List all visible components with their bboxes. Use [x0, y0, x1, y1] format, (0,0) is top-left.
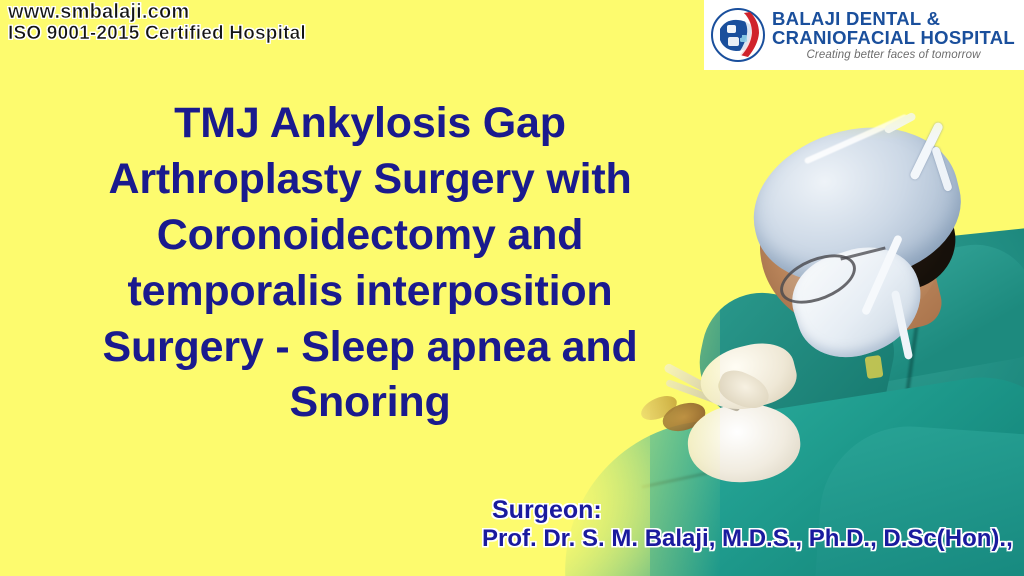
surgeon-credit: Surgeon: Prof. Dr. S. M. Balaji, M.D.S.,…: [492, 496, 1013, 553]
title-line: Surgery - Sleep apnea and: [0, 320, 740, 376]
balaji-hospital-emblem-icon: [710, 7, 766, 63]
slide-root: www.smbalaji.com ISO 9001-2015 Certified…: [0, 0, 1024, 576]
surgical-cap-tie: [883, 111, 917, 134]
title-line: Arthroplasty Surgery with: [0, 152, 740, 208]
hospital-logo[interactable]: BALAJI DENTAL & CRANIOFACIAL HOSPITAL Cr…: [704, 0, 1024, 70]
logo-line-1: BALAJI DENTAL &: [772, 9, 1015, 28]
surgeon-ear: [845, 247, 891, 305]
surgeon-head: [740, 138, 960, 351]
surgical-cap-seam: [804, 113, 909, 164]
title-line: TMJ Ankylosis Gap: [0, 96, 740, 152]
surgical-mask: [781, 233, 935, 371]
header-left-text: www.smbalaji.com ISO 9001-2015 Certified…: [8, 2, 306, 44]
surgeon-neck: [857, 242, 946, 337]
surgical-mask-strap: [861, 234, 903, 316]
page-title: TMJ Ankylosis Gap Arthroplasty Surgery w…: [0, 96, 740, 431]
surgical-cap-tie: [931, 146, 953, 192]
surgical-mask-strap: [891, 290, 913, 360]
scrub-badge: [865, 355, 884, 379]
surgeon-role-label: Surgeon:: [492, 496, 1013, 524]
logo-tagline: Creating better faces of tomorrow: [772, 49, 1015, 61]
surgeon-shoulder: [847, 235, 1024, 384]
eyeglasses: [773, 245, 863, 314]
logo-line-2: CRANIOFACIAL HOSPITAL: [772, 28, 1015, 47]
surgical-cap: [737, 107, 975, 303]
retractor-instrument: [736, 393, 779, 407]
surgeon-name: Prof. Dr. S. M. Balaji, M.D.S., Ph.D., D…: [482, 526, 1013, 553]
surgical-cap-tie: [909, 121, 944, 181]
scrub-fold: [958, 400, 1017, 444]
title-line: Snoring: [0, 375, 740, 431]
title-line: temporalis interposition: [0, 264, 740, 320]
title-line: Coronoidectomy and: [0, 208, 740, 264]
website-url: www.smbalaji.com: [8, 2, 306, 23]
eyeglasses-temple: [840, 246, 885, 260]
surgeon-hair: [824, 167, 968, 307]
scrub-fold: [833, 450, 947, 494]
logo-wordmark: BALAJI DENTAL & CRANIOFACIAL HOSPITAL Cr…: [772, 9, 1015, 62]
iso-certification: ISO 9001-2015 Certified Hospital: [8, 24, 306, 44]
surgical-drape-fold: [641, 454, 788, 488]
